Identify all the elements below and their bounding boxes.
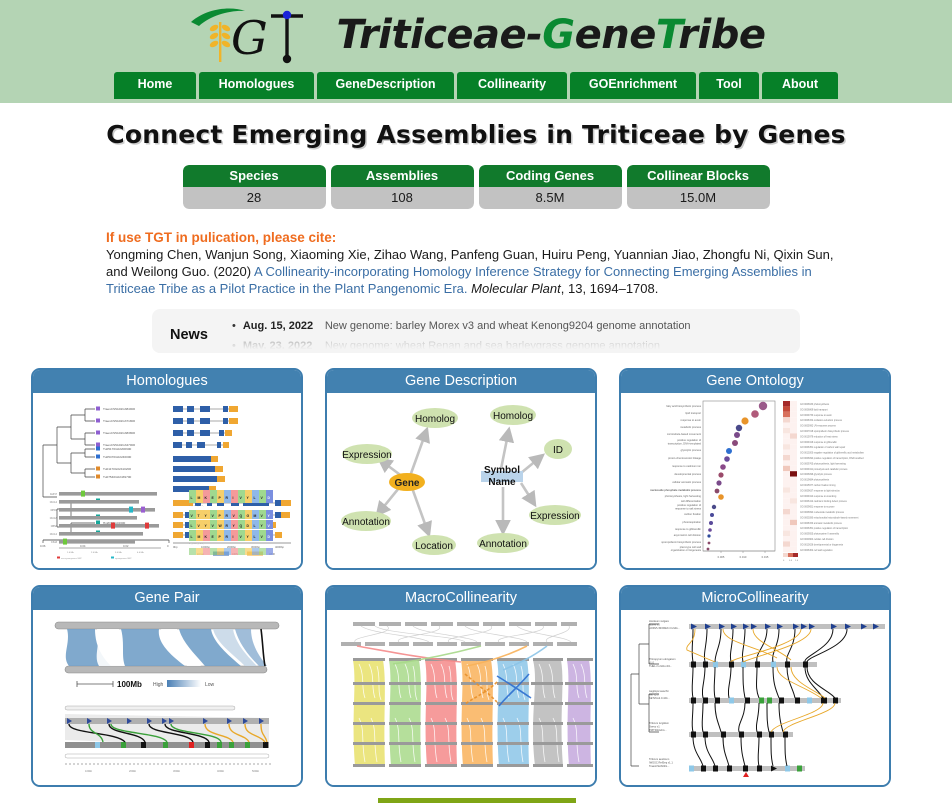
svg-text:GO:0009411 proteolysis and cat: GO:0009411 proteolysis and catabolic pro…	[800, 468, 848, 471]
news-list: Aug. 15, 2022 New genome: barley Morex v…	[232, 317, 800, 353]
svg-text:Aet v5.0: Aet v5.0	[649, 693, 659, 697]
svg-text:L: L	[191, 496, 193, 500]
stat-box-assemblies: Assemblies 108	[331, 165, 474, 209]
svg-text:GO:0009651 response to sucrose: GO:0009651 response to sucrose	[800, 506, 835, 509]
svg-text:Morex v3: Morex v3	[649, 623, 660, 627]
card-micro-collinearity[interactable]: MicroCollinearity Hordeum vulgareMorex v…	[619, 585, 891, 787]
svg-text:I: I	[233, 496, 234, 500]
svg-text:L: L	[191, 535, 193, 539]
citation-block: If use TGT in pulication, please cite: Y…	[106, 230, 846, 297]
svg-text:GO:0006694 nucleoside metaboli: GO:0006694 nucleoside metabolic process	[800, 511, 845, 514]
stat-box-collinear-blocks: Collinear Blocks 15.0M	[627, 165, 770, 209]
svg-text:GO:0005992 UV-response process: GO:0005992 UV-response process	[800, 425, 837, 428]
stat-box-species: Species 28	[183, 165, 326, 209]
node-label-location: Location	[415, 541, 453, 552]
svg-text:Chr4-2: Chr4-2	[50, 533, 58, 536]
svg-text:Thinopyrum elongatum: Thinopyrum elongatum	[649, 657, 676, 661]
svg-text:300kb: 300kb	[173, 769, 181, 773]
logo-row: G Triticeae-GeneTribe	[0, 0, 952, 70]
svg-text:response to salt stress: response to salt stress	[675, 507, 702, 511]
svg-text:Q: Q	[240, 524, 243, 528]
svg-text:G: G	[247, 514, 250, 518]
svg-text:L: L	[254, 524, 256, 528]
footer-accent-bar	[378, 798, 576, 803]
svg-text:lipid transport: lipid transport	[685, 411, 701, 415]
svg-text:M: M	[198, 535, 201, 539]
svg-text:TraesCS5A02G371800: TraesCS5A02G371800	[103, 419, 135, 423]
svg-text:TraesCS5A02G384900: TraesCS5A02G384900	[103, 407, 135, 411]
node-label-homolog: Homolog	[415, 414, 455, 425]
svg-text:nucleoside phosphate metabolic: nucleoside phosphate metabolic process	[650, 488, 701, 492]
card-title-micro-collinearity: MicroCollinearity	[621, 587, 889, 610]
citation-volume-pages: , 13, 1694–1708.	[561, 281, 659, 296]
svg-text:GO:0006633 photosynthesis: GO:0006633 photosynthesis	[800, 403, 830, 406]
svg-text:photosynthesis, light harvesti: photosynthesis, light harvesting	[665, 494, 702, 498]
svg-text:* . : * * . : * * .: * . : * * . : * * .	[189, 504, 204, 508]
svg-text:GO:0006869 lipid transport: GO:0006869 lipid transport	[800, 409, 828, 412]
card-title-macro-collinearity: MacroCollinearity	[327, 587, 595, 610]
stat-label-coding-genes: Coding Genes	[479, 165, 622, 187]
citation-heading: If use TGT in pulication, please cite:	[106, 230, 846, 245]
svg-text:CsP17: CsP17	[50, 493, 58, 496]
svg-text:Chr4-2: Chr4-2	[50, 501, 58, 504]
nav-item-goenrichment[interactable]: GOEnrichment	[570, 72, 696, 99]
svg-text:3.0 Mb: 3.0 Mb	[115, 552, 122, 554]
nav-item-genedescription[interactable]: GeneDescription	[317, 72, 454, 99]
svg-text:Triticum aestivum: Triticum aestivum	[649, 757, 669, 761]
svg-text:Tu05470G02246000: Tu05470G02246000	[103, 455, 132, 459]
svg-text:TRITD2Av1G...: TRITD2Av1G...	[649, 728, 667, 732]
wheat-tgt-logo-icon[interactable]: G	[187, 4, 327, 66]
svg-text:200kb: 200kb	[129, 769, 137, 773]
nav-item-collinearity[interactable]: Collinearity	[457, 72, 567, 99]
news-item-text: New genome: wheat Renan and sea barleygr…	[325, 339, 660, 353]
stat-box-coding-genes: Coding Genes 8.5M	[479, 165, 622, 209]
news-item-date: May. 23, 2022	[243, 339, 325, 353]
gene-pair-legend-low: Low	[205, 682, 215, 688]
stat-label-species: Species	[183, 165, 326, 187]
svg-text:Hordeum vulgare: Hordeum vulgare	[649, 619, 669, 623]
svg-text:GO:0009416 response to gibbere: GO:0009416 response to gibberellin	[800, 441, 838, 444]
stat-label-assemblies: Assemblies	[331, 165, 474, 187]
svg-text:GO:0006096 glycolytic process: GO:0006096 glycolytic process	[800, 474, 833, 477]
stat-label-collinear-blocks: Collinear Blocks	[627, 165, 770, 187]
card-macro-collinearity[interactable]: MacroCollinearity	[325, 585, 597, 787]
svg-text:L: L	[191, 524, 193, 528]
node-label-symbol: Symbol	[484, 465, 520, 476]
svg-text:0.010: 0.010	[740, 555, 747, 559]
site-header: G Triticeae-GeneTribe Home Homologues Ge…	[0, 0, 952, 103]
svg-text:CBS3: CBS3	[51, 525, 58, 528]
nav-item-tool[interactable]: Tool	[699, 72, 759, 99]
svg-text:L: L	[254, 496, 256, 500]
card-title-homologues: Homologues	[33, 370, 301, 393]
svg-text:response to cadmium ion: response to cadmium ion	[672, 464, 702, 468]
svg-text:500kb: 500kb	[252, 769, 260, 773]
svg-text:GO:0006351 positive regulation: GO:0006351 positive regulation of transc…	[800, 528, 849, 531]
svg-text:GO:0008152 oxidation-reduction: GO:0008152 oxidation-reduction process	[800, 420, 843, 423]
svg-text:GO:0019684 photosynthesis: GO:0019684 photosynthesis	[800, 479, 830, 482]
svg-text:I: I	[233, 535, 234, 539]
svg-text:GO:0008150 aromatic metabolic: GO:0008150 aromatic metabolic process	[800, 522, 843, 525]
svg-text:GO:0010026 developmental or bi: GO:0010026 developmental or biogenesis	[800, 544, 844, 547]
news-label: News	[170, 317, 232, 343]
svg-text:v1.0: v1.0	[649, 661, 654, 665]
svg-text:positive regulation of: positive regulation of	[677, 503, 701, 507]
svg-text:glycolytic process: glycolytic process	[681, 448, 702, 452]
node-label-homolog-2: Homolog	[493, 411, 533, 422]
node-label-expression-2: Expression	[530, 511, 579, 522]
svg-text:Aegilops tauschii: Aegilops tauschii	[649, 689, 669, 693]
svg-text:G: G	[231, 11, 268, 65]
svg-text:organization or biogenesis: organization or biogenesis	[671, 548, 702, 552]
svg-text:* . : * * . : * * .: * . : * * . : * * .	[189, 542, 204, 546]
svg-text:Q: Q	[240, 514, 243, 518]
card-title-gene-ontology: Gene Ontology	[621, 370, 889, 393]
svg-text:DPOs: DPOs	[51, 509, 58, 512]
node-label-annotation-2: Annotation	[479, 539, 527, 550]
svg-text:THEL.r1.2HG.n04...: THEL.r1.2HG.n04...	[649, 664, 672, 668]
card-title-gene-description: Gene Description	[327, 370, 595, 393]
node-label-name: Name	[488, 477, 516, 488]
news-item-text: New genome: barley Morex v3 and wheat Ke…	[325, 319, 691, 335]
news-panel: News Aug. 15, 2022 New genome: barley Mo…	[152, 309, 800, 353]
card-thumb-gene-pair: 100Mb High Low	[33, 610, 301, 785]
svg-text:response to gibberellin: response to gibberellin	[675, 527, 702, 531]
svg-text:IWGSC RefSeq v1.1: IWGSC RefSeq v1.1	[649, 761, 673, 765]
svg-text:GO:0007018 sporopollenin biosy: GO:0007018 sporopollenin biosynthetic pr…	[800, 430, 850, 433]
brand-title: Triticeae-GeneTribe	[337, 15, 766, 55]
node-label-gene: Gene	[394, 478, 419, 489]
stat-value-coding-genes: 8.5M	[479, 187, 622, 209]
main-nav[interactable]: Home Homologues GeneDescription Collinea…	[0, 72, 952, 99]
svg-text:asymmetric cell division: asymmetric cell division	[674, 533, 702, 537]
card-thumb-gene-ontology: fatty acid biosynthetic process lipid tr…	[621, 393, 889, 568]
news-item[interactable]: Aug. 15, 2022 New genome: barley Morex v…	[232, 317, 800, 337]
svg-text:sporopollenin biosynthetic pro: sporopollenin biosynthetic process	[661, 540, 701, 544]
nav-item-home[interactable]: Home	[114, 72, 196, 99]
node-label-annotation: Annotation	[342, 517, 390, 528]
card-homologues[interactable]: Homologues	[31, 368, 303, 570]
svg-text:developmental process: developmental process	[674, 472, 701, 476]
svg-text:GO:0010200 negative regulation: GO:0010200 negative regulation of gibber…	[800, 452, 864, 455]
card-thumb-macro-collinearity	[327, 610, 595, 785]
svg-text:AET2Gv2.0.n04...: AET2Gv2.0.n04...	[649, 696, 670, 700]
svg-text:cellular aromatic process: cellular aromatic process	[672, 480, 701, 484]
card-title-gene-pair: Gene Pair	[33, 587, 301, 610]
citation-body: Yongming Chen, Wanjun Song, Xiaoming Xie…	[106, 246, 846, 297]
svg-text:synonymous SNP: synonymous SNP	[115, 558, 132, 560]
svg-text:GO:0006412 cadmium binding def: GO:0006412 cadmium binding defect proces…	[800, 501, 848, 504]
svg-text:carbon fixation: carbon fixation	[684, 512, 701, 516]
node-label-id: ID	[553, 445, 563, 456]
svg-text:GO:0015977 carbon fixation tim: GO:0015977 carbon fixation timing	[800, 484, 836, 487]
citation-journal: Molecular Plant	[471, 281, 561, 296]
stat-value-collinear-blocks: 15.0M	[627, 187, 770, 209]
node-label-expression: Expression	[342, 450, 391, 461]
svg-text:GO:0000280 mitochondrial micro: GO:0000280 mitochondrial microtubule-bas…	[800, 517, 859, 520]
card-thumb-micro-collinearity: Hordeum vulgareMorex v3HORVU.MOREX.r3.2H…	[621, 610, 889, 785]
stat-value-assemblies: 108	[331, 187, 474, 209]
svg-text:2.0 Mb: 2.0 Mb	[91, 552, 98, 554]
page-title: Connect Emerging Assemblies in Triticeae…	[0, 120, 952, 149]
svg-text:Tu05170G02200900: Tu05170G02200900	[103, 447, 132, 451]
svg-text:M: M	[198, 496, 201, 500]
nav-item-about[interactable]: About	[762, 72, 838, 99]
svg-text:GO:0006094 positive regulation: GO:0006094 positive regulation of transc…	[800, 457, 864, 460]
svg-text:non-synonymous SNP: non-synonymous SNP	[61, 558, 82, 560]
gene-pair-legend-high: High	[153, 682, 164, 688]
svg-text:0.005: 0.005	[718, 555, 725, 559]
svg-text:GO:0006302 cell wall regulatio: GO:0006302 cell wall regulation	[800, 549, 833, 552]
svg-text:M: M	[254, 514, 257, 518]
svg-text:cell differentiation: cell differentiation	[681, 499, 702, 503]
svg-text:1.0 Mb: 1.0 Mb	[67, 552, 74, 554]
svg-text:Tu07540G02439700: Tu07540G02439700	[103, 475, 132, 479]
svg-text:microtubule-based movement: microtubule-based movement	[667, 432, 701, 436]
card-gene-ontology[interactable]: Gene Ontology fatty acid biosynthetic pr…	[619, 368, 891, 570]
svg-text:photorespiration: photorespiration	[682, 520, 701, 524]
nav-item-homologues[interactable]: Homologues	[199, 72, 314, 99]
svg-text:4.0 Mb: 4.0 Mb	[137, 552, 144, 554]
svg-text:transcription, DNA-templated: transcription, DNA-templated	[668, 442, 702, 446]
svg-text:L: L	[254, 535, 256, 539]
svg-text:fatty acid biosynthetic proces: fatty acid biosynthetic process	[666, 404, 701, 408]
feature-card-grid: Homologues	[31, 368, 921, 787]
card-gene-pair[interactable]: Gene Pair	[31, 585, 303, 787]
svg-text:GO:0006351 regulation of carbo: GO:0006351 regulation of carbon wall rep…	[800, 447, 845, 450]
svg-text:Chr4-8: Chr4-8	[50, 517, 58, 520]
svg-text:GO:0009637 response to light s: GO:0009637 response to light stimulus	[800, 490, 841, 493]
svg-text:GO:0009555 photosystem II asse: GO:0009555 photosystem II assembly	[800, 533, 840, 536]
gene-pair-scale-label: 100Mb	[117, 680, 142, 689]
svg-text:GO:0015979 reduction of heat s: GO:0015979 reduction of heat stress	[800, 436, 839, 439]
svg-text:metabolic process: metabolic process	[680, 425, 702, 429]
stats-row: Species 28 Assemblies 108 Coding Genes 8…	[0, 165, 952, 209]
svg-text:TraesCS5A02G383800: TraesCS5A02G383800	[103, 431, 135, 435]
svg-text:CS13: CS13	[51, 541, 58, 544]
svg-text:proton-chemiosmotic linkage: proton-chemiosmotic linkage	[668, 456, 702, 460]
news-item-date: Aug. 15, 2022	[243, 319, 325, 335]
svg-text:Tu01170G02410200: Tu01170G02410200	[103, 467, 131, 471]
news-item[interactable]: May. 23, 2022 New genome: wheat Renan an…	[232, 337, 800, 353]
card-thumb-gene-description: Homolog Expression Annotation Location G…	[327, 393, 595, 568]
svg-text:HORVU.MOREX.r3.2HG...: HORVU.MOREX.r3.2HG...	[649, 626, 680, 630]
svg-text:GO:0000904 cellular cell divis: GO:0000904 cellular cell division	[800, 538, 834, 541]
svg-text:TraesCS2A02G...: TraesCS2A02G...	[649, 764, 670, 768]
svg-text:0.015: 0.015	[762, 555, 769, 559]
svg-text:GO:0009733 response to auxin: GO:0009733 response to auxin	[800, 414, 833, 417]
svg-text:GO:0009414 response to woundin: GO:0009414 response to wounding	[800, 495, 837, 498]
svg-text:GO:0009765 photosynthesis, lig: GO:0009765 photosynthesis, light harvest…	[800, 463, 847, 466]
svg-text:Triticum turgidum: Triticum turgidum	[649, 721, 669, 725]
svg-text:100kb: 100kb	[85, 769, 93, 773]
svg-text:Svevo v1: Svevo v1	[649, 725, 660, 729]
svg-text:response to auxin: response to auxin	[681, 418, 702, 422]
svg-text:400kb: 400kb	[217, 769, 225, 773]
card-thumb-homologues: TraesCS5A02G384900 TraesCS5A02G371800 Tr…	[33, 393, 301, 568]
card-gene-description[interactable]: Gene Description Homolog	[325, 368, 597, 570]
svg-text:positive regulation of: positive regulation of	[677, 438, 701, 442]
stat-value-species: 28	[183, 187, 326, 209]
